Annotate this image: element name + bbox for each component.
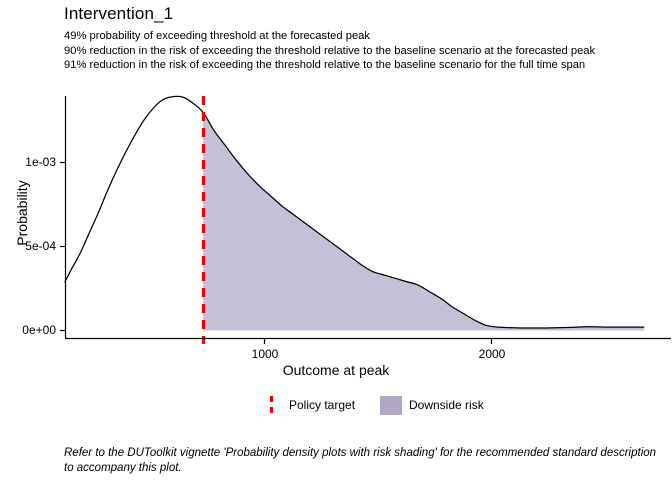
y-axis-title: Probability xyxy=(14,113,30,313)
ytick-label-0: 0e+00 xyxy=(4,323,56,337)
ytick-label-2: 1e-03 xyxy=(4,155,56,169)
figure-caption: Refer to the DUToolkit vignette 'Probabi… xyxy=(64,446,660,476)
legend-label-downside-risk: Downside risk xyxy=(409,398,484,412)
x-axis-title: Outcome at peak xyxy=(0,362,672,378)
legend: Policy target Downside risk xyxy=(0,392,672,422)
xtick-label-2000: 2000 xyxy=(464,347,520,361)
legend-label-policy-target: Policy target xyxy=(289,398,355,412)
xtick-label-1000: 1000 xyxy=(237,347,293,361)
ytick-label-1: 5e-04 xyxy=(4,239,56,253)
shaded-downside-risk-area xyxy=(202,111,644,331)
